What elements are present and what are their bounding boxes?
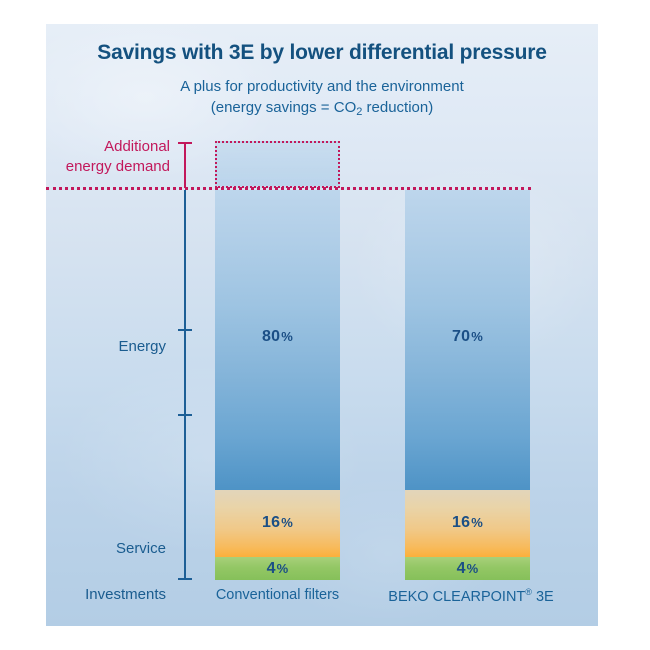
co2-subscript: 2 xyxy=(356,106,362,118)
bar-segment-investments: 4% xyxy=(405,557,530,580)
additional-energy-demand-box xyxy=(215,141,340,188)
page-title: Savings with 3E by lower differential pr… xyxy=(46,41,598,65)
bar-value-service-unit: % xyxy=(471,515,483,530)
bar-value-energy-number: 80 xyxy=(262,328,280,345)
axis-label-additional-energy-demand: Additional energy demand xyxy=(46,137,170,176)
additional-demand-line-2: energy demand xyxy=(46,157,170,177)
bar-segment-energy: 70% xyxy=(405,190,530,490)
bar-segment-energy: 80% xyxy=(215,190,340,490)
bar-value-investments-unit: % xyxy=(277,561,289,576)
subtitle-line-1: A plus for productivity and the environm… xyxy=(180,78,464,95)
chart-subtitle: A plus for productivity and the environm… xyxy=(46,76,598,119)
registered-trademark-icon: ® xyxy=(525,587,532,597)
subtitle-line-2: (energy savings = CO2 reduction) xyxy=(46,97,598,118)
bar-segment-investments: 4% xyxy=(215,557,340,580)
bar-value-investments: 4% xyxy=(215,560,340,578)
chart-panel: Savings with 3E by lower differential pr… xyxy=(46,24,598,626)
bar-conventional-filters[interactable]: 80% 16% 4% xyxy=(215,190,340,580)
bar-value-energy: 80% xyxy=(215,328,340,346)
bar-value-energy: 70% xyxy=(405,328,530,346)
series-label-main: BEKO CLEARPOINT xyxy=(388,589,525,605)
axis-label-energy: Energy xyxy=(118,338,166,355)
series-label-suffix: 3E xyxy=(532,589,554,605)
bar-segment-service: 16% xyxy=(405,490,530,557)
axis-tick-service-top xyxy=(178,414,192,416)
bar-value-investments-number: 4 xyxy=(457,560,466,577)
bar-segment-service: 16% xyxy=(215,490,340,557)
additional-demand-bracket-line xyxy=(184,142,186,188)
series-label-beko-clearpoint-3e: BEKO CLEARPOINT® 3E xyxy=(376,587,566,605)
bar-beko-clearpoint-3e[interactable]: 70% 16% 4% xyxy=(405,190,530,580)
chart-canvas: Savings with 3E by lower differential pr… xyxy=(0,0,650,650)
axis-label-service: Service xyxy=(116,540,166,557)
subtitle-line-2-post: reduction) xyxy=(362,99,433,116)
axis-tick-investments xyxy=(178,578,192,580)
bar-value-energy-unit: % xyxy=(471,329,483,344)
axis-tick-energy-mid xyxy=(178,329,192,331)
subtitle-line-2-pre: (energy savings = CO xyxy=(211,99,356,116)
bar-value-investments-unit: % xyxy=(467,561,479,576)
bar-value-service: 16% xyxy=(215,514,340,532)
bar-value-service-unit: % xyxy=(281,515,293,530)
additional-demand-line-1: Additional xyxy=(46,137,170,157)
axis-label-investments: Investments xyxy=(85,586,166,603)
bar-value-service-number: 16 xyxy=(452,514,470,531)
series-label-conventional-filters: Conventional filters xyxy=(191,587,364,603)
bar-value-investments-number: 4 xyxy=(267,560,276,577)
value-axis-line xyxy=(184,190,186,580)
bar-value-energy-unit: % xyxy=(281,329,293,344)
bar-value-service: 16% xyxy=(405,514,530,532)
bar-value-energy-number: 70 xyxy=(452,328,470,345)
bar-value-service-number: 16 xyxy=(262,514,280,531)
bar-value-investments: 4% xyxy=(405,560,530,578)
